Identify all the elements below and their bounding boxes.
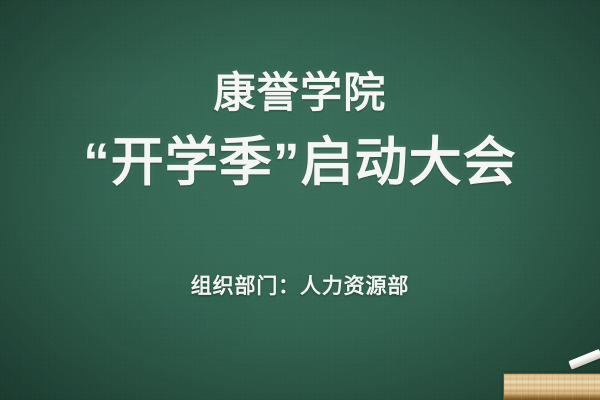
page-title-line-2: “开学季”启动大会	[0, 136, 600, 189]
wood-grain-texture	[504, 374, 600, 400]
chalk-ledge	[503, 373, 600, 400]
chalkboard-title-slide: 康誉学院 “开学季”启动大会 组织部门：人力资源部	[0, 0, 600, 400]
slide-text-layer: 康誉学院 “开学季”启动大会 组织部门：人力资源部	[0, 0, 600, 400]
slide-subtitle: 组织部门：人力资源部	[0, 276, 600, 297]
page-title-line-1: 康誉学院	[0, 72, 600, 114]
